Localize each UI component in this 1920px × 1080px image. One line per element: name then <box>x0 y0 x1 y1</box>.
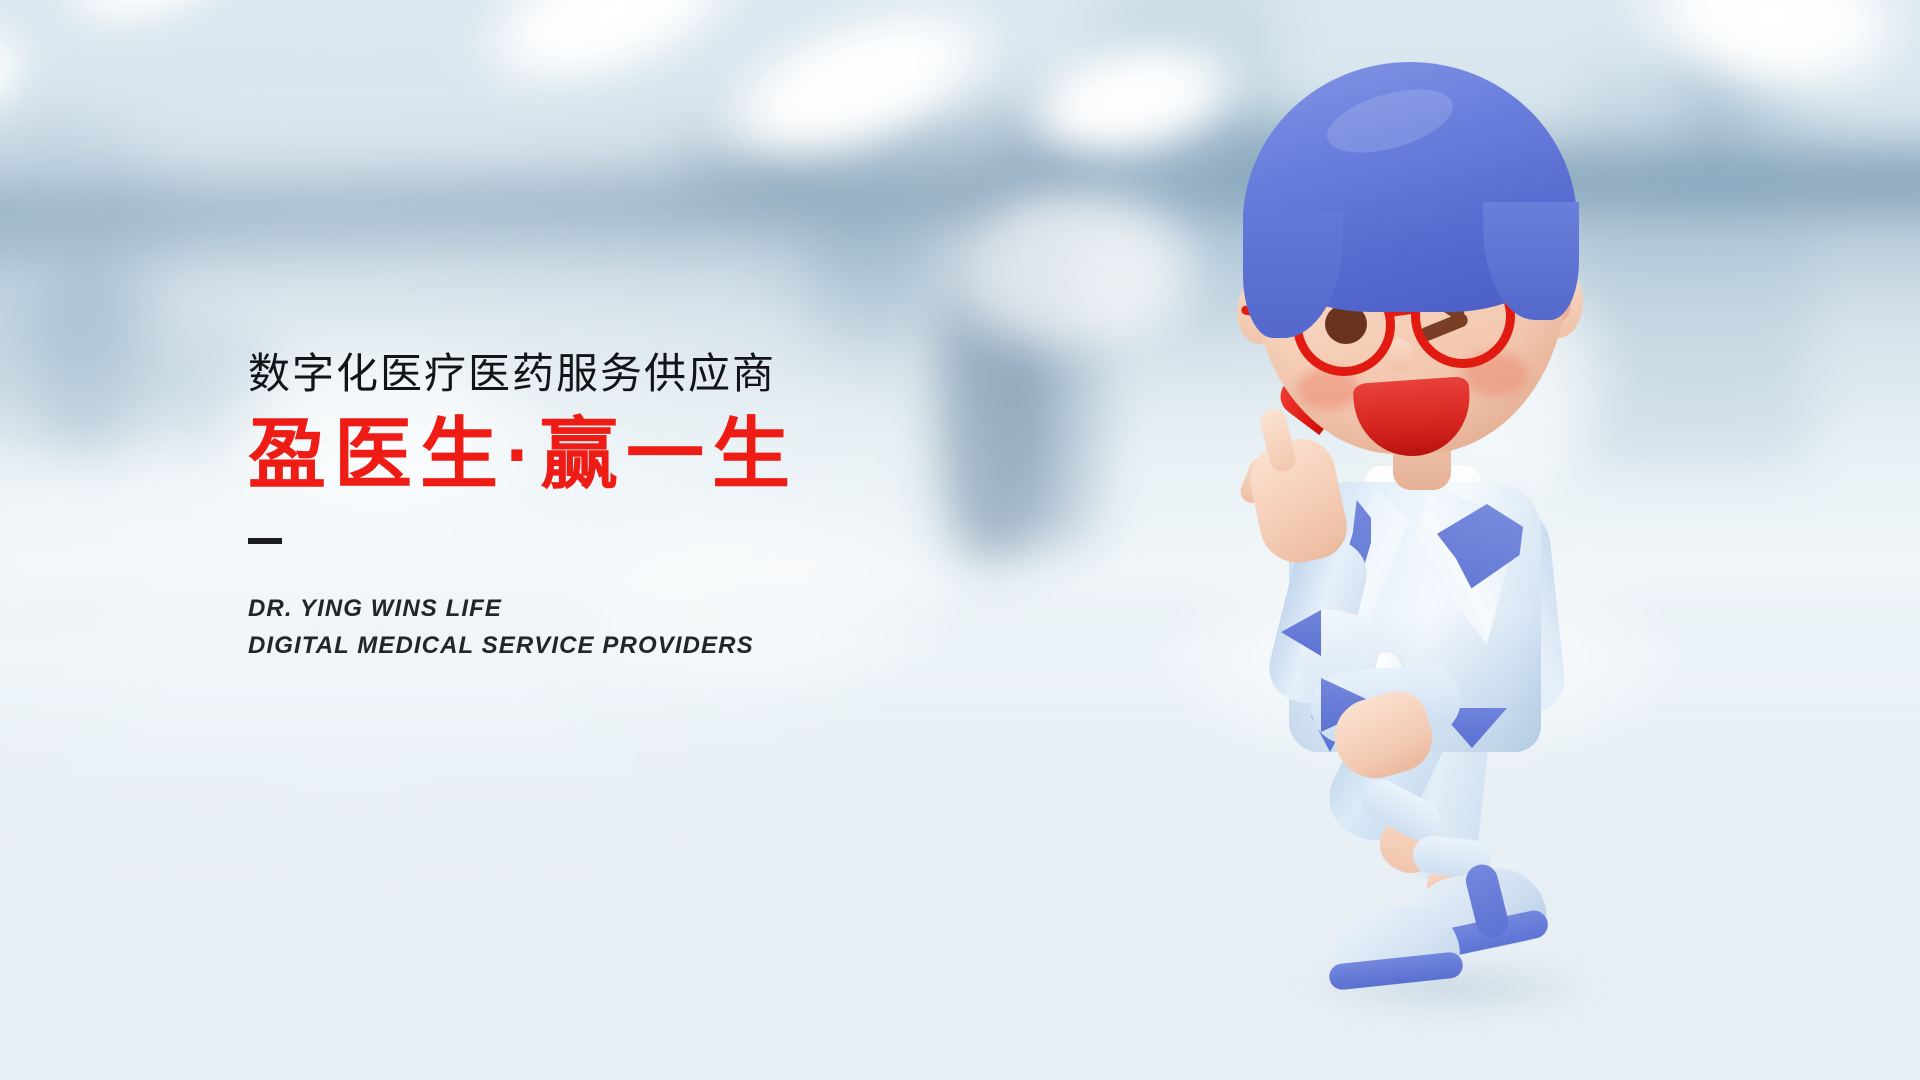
doctor-mascot <box>1215 52 1685 1012</box>
english-tagline-line-2: DIGITAL MEDICAL SERVICE PROVIDERS <box>248 627 1008 664</box>
main-headline: 盈医生·赢一生 <box>248 414 1008 496</box>
divider-rule <box>248 538 282 544</box>
english-tagline-line-1: DR. YING WINS LIFE <box>248 590 1008 627</box>
sub-headline: 数字化医疗医药服务供应商 <box>248 352 1008 396</box>
raised-hand <box>1243 432 1352 569</box>
english-tagline: DR. YING WINS LIFE DIGITAL MEDICAL SERVI… <box>248 590 1008 664</box>
hero-copy-block: 数字化医疗医药服务供应商 盈医生·赢一生 DR. YING WINS LIFE … <box>248 352 1008 664</box>
hero-banner: 数字化医疗医药服务供应商 盈医生·赢一生 DR. YING WINS LIFE … <box>0 0 1920 1080</box>
